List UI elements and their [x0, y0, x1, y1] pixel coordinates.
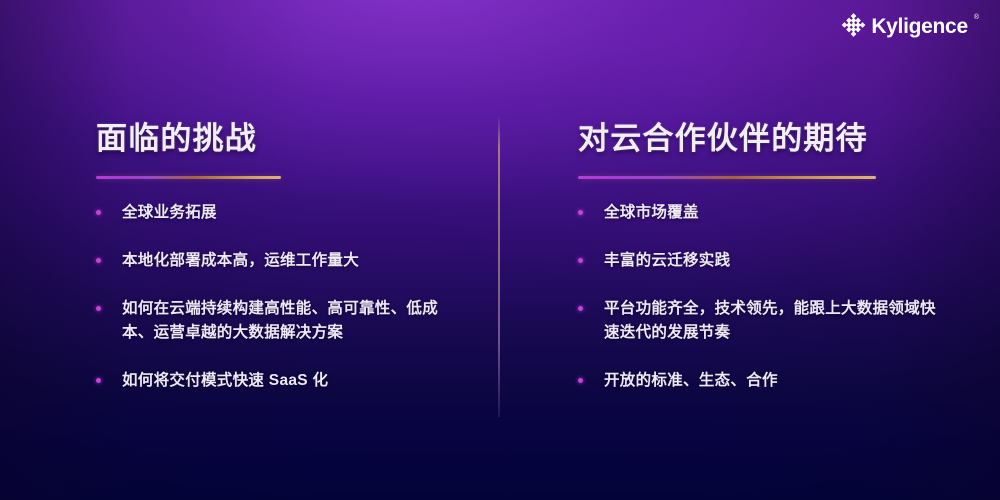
list-item-label: 开放的标准、生态、合作: [604, 372, 778, 389]
challenges-column: 面临的挑战 全球业务拓展 本地化部署成本高，运维工作量大 如何在云端持续构建高性…: [96, 120, 468, 393]
challenges-bullet-list: 全球业务拓展 本地化部署成本高，运维工作量大 如何在云端持续构建高性能、高可靠性…: [96, 201, 468, 393]
brand-wordmark: Kyligence: [871, 16, 968, 37]
list-item: 开放的标准、生态、合作: [578, 369, 950, 393]
kyligence-diamond-logo-icon: [841, 13, 866, 38]
bullet-dot-icon: [578, 306, 583, 311]
list-item-label: 如何将交付模式快速 SaaS 化: [122, 372, 328, 389]
list-item-label: 丰富的云迁移实践: [604, 252, 730, 269]
list-item: 如何在云端持续构建高性能、高可靠性、低成本、运营卓越的大数据解决方案: [96, 297, 468, 345]
bullet-dot-icon: [96, 210, 101, 215]
expectations-column: 对云合作伙伴的期待 全球市场覆盖 丰富的云迁移实践 平台功能齐全，技术领先，能跟…: [578, 120, 950, 393]
expectations-bullet-list: 全球市场覆盖 丰富的云迁移实践 平台功能齐全，技术领先，能跟上大数据领域快速迭代…: [578, 201, 950, 393]
bullet-dot-icon: [96, 258, 101, 263]
kyligence-logo: Kyligence ®: [841, 13, 978, 38]
bullet-dot-icon: [578, 378, 583, 383]
list-item: 丰富的云迁移实践: [578, 249, 950, 273]
expectations-accent-rule: [578, 176, 876, 179]
list-item: 本地化部署成本高，运维工作量大: [96, 249, 468, 273]
challenges-heading: 面临的挑战: [96, 120, 468, 157]
list-item-label: 全球业务拓展: [122, 204, 217, 221]
bullet-dot-icon: [96, 306, 101, 311]
challenges-accent-rule: [96, 176, 281, 179]
list-item-label: 全球市场覆盖: [604, 204, 699, 221]
list-item: 全球业务拓展: [96, 201, 468, 225]
expectations-heading: 对云合作伙伴的期待: [578, 120, 950, 157]
registered-trademark-icon: ®: [974, 14, 979, 21]
list-item: 如何将交付模式快速 SaaS 化: [96, 369, 468, 393]
list-item: 平台功能齐全，技术领先，能跟上大数据领域快速迭代的发展节奏: [578, 297, 950, 345]
list-item-label: 平台功能齐全，技术领先，能跟上大数据领域快速迭代的发展节奏: [604, 300, 936, 341]
presentation-slide: Kyligence ® 面临的挑战 全球业务拓展 本地化部署成本高，运维工作量大…: [0, 0, 1000, 500]
list-item: 全球市场覆盖: [578, 201, 950, 225]
column-divider: [498, 117, 500, 417]
bullet-dot-icon: [578, 258, 583, 263]
bullet-dot-icon: [578, 210, 583, 215]
list-item-label: 本地化部署成本高，运维工作量大: [122, 252, 359, 269]
bullet-dot-icon: [96, 378, 101, 383]
list-item-label: 如何在云端持续构建高性能、高可靠性、低成本、运营卓越的大数据解决方案: [122, 300, 438, 341]
